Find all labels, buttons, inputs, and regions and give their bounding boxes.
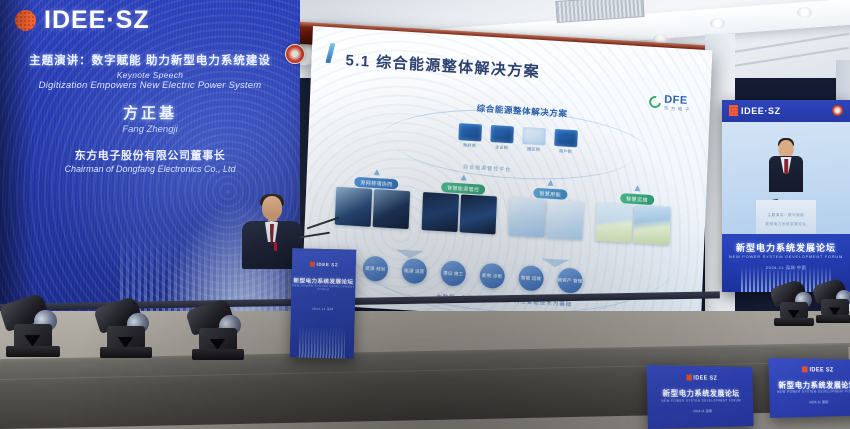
stage-backdrop: IDEE·SZ 主题演讲：数字赋能 助力新型电力系统建设 Keynote Spe… bbox=[0, 0, 300, 330]
lectern-date-line: 2024.11 深圳 bbox=[291, 306, 355, 312]
keynote-label-en: Keynote Speech bbox=[0, 70, 300, 80]
group-caption: 智慧用能 bbox=[533, 188, 567, 200]
diagram-tile: 政府侧 bbox=[458, 123, 482, 149]
dotted-grid-icon bbox=[729, 105, 738, 116]
placard-date-line: 2024.11 深圳 bbox=[648, 409, 754, 415]
up-arrow-icon bbox=[634, 185, 640, 191]
placard-title-cn: 新型电力系统发展论坛 bbox=[647, 388, 753, 399]
forum-title-en: NEW POWER SYSTEM DEVELOPMENT FORUM bbox=[722, 254, 850, 259]
placard-title-en: NEW POWER SYSTEM DEVELOPMENT FORUM bbox=[769, 389, 850, 393]
diagram-tile: 用户侧 bbox=[554, 129, 578, 155]
moving-head-spotlight-icon bbox=[6, 305, 60, 357]
dfe-swirl-icon bbox=[647, 94, 664, 111]
group-image bbox=[459, 194, 497, 234]
capability-circle: 智能 运维 bbox=[518, 265, 544, 292]
secondary-screen-logo-text: IDEE·SZ bbox=[741, 106, 781, 116]
backdrop-logo: IDEE·SZ bbox=[14, 6, 150, 35]
slide-diagram: 综合能源整体解决方案 政府侧 企业侧 园区侧 bbox=[332, 94, 685, 313]
backdrop-left-shadow bbox=[0, 0, 34, 330]
dotted-grid-icon bbox=[310, 262, 315, 267]
group-images bbox=[595, 203, 670, 245]
speaker-video-figure bbox=[764, 140, 808, 202]
capability-circle: 能源 运营 bbox=[401, 258, 427, 285]
speaker-lanyard-badge bbox=[274, 242, 277, 251]
tile-thumbnail bbox=[522, 127, 546, 145]
speaker-name-cn: 方正基 bbox=[0, 102, 300, 123]
moving-head-spotlight-icon bbox=[816, 286, 850, 323]
lectern-title-en: NEW POWER SYSTEM DEVELOPMENT FORUM bbox=[291, 284, 355, 292]
placard-logo: IDEE SZ bbox=[769, 366, 850, 374]
group-images bbox=[422, 192, 497, 234]
lectern-logo-text: IDEE SZ bbox=[317, 262, 339, 268]
projection-screen-surface: 5.1 综合能源整体解决方案 DFE 东方电子 综合能源整体解决方案 政府侧 bbox=[301, 26, 712, 328]
dotted-grid-icon bbox=[802, 367, 808, 373]
lectern-skyline-graphic bbox=[299, 319, 346, 358]
group-image bbox=[546, 200, 584, 240]
group-image bbox=[595, 203, 633, 243]
keynote-topic-cn: 主题演讲：数字赋能 助力新型电力系统建设 bbox=[0, 52, 300, 68]
lectern: IDEE SZ 新型电力系统发展论坛 NEW POWER SYSTEM DEVE… bbox=[290, 248, 357, 359]
circular-seal-emblem-icon bbox=[832, 105, 843, 116]
video-caption-line1: 主题演讲：数字赋能 bbox=[722, 213, 850, 218]
placard-date-line: 2024.11 深圳 bbox=[770, 399, 850, 405]
diagram-tile: 园区侧 bbox=[522, 127, 546, 153]
ceiling-downlight bbox=[797, 7, 812, 18]
floor-placard: IDEE SZ 新型电力系统发展论坛 NEW POWER SYSTEM DEVE… bbox=[768, 358, 850, 418]
dfe-brand-logo: DFE 东方电子 bbox=[649, 94, 693, 113]
keynote-topic-en: Digitization Empowers New Electric Power… bbox=[0, 80, 300, 91]
backdrop-logo-text: IDEE·SZ bbox=[44, 6, 150, 35]
placard-logo-text: IDEE SZ bbox=[693, 376, 717, 382]
speaker-tie bbox=[784, 159, 788, 174]
forum-title-cn: 新型电力系统发展论坛 bbox=[722, 241, 850, 254]
speaker-role-en: Chairman of Dongfang Electronics Co., Lt… bbox=[0, 164, 300, 174]
group-image bbox=[508, 197, 546, 237]
secondary-led-screen: IDEE·SZ 主题演讲：数字赋能 新型电力系统发展论坛 新型电力系统发展论坛 … bbox=[722, 100, 850, 292]
group-image bbox=[633, 205, 671, 245]
group-image bbox=[422, 192, 460, 232]
moving-head-spotlight-icon bbox=[100, 308, 152, 358]
dotted-grid-icon bbox=[686, 375, 692, 381]
lectern-top-surface bbox=[290, 248, 357, 251]
moving-head-spotlight-icon bbox=[192, 310, 244, 360]
projection-screen: 5.1 综合能源整体解决方案 DFE 东方电子 综合能源整体解决方案 政府侧 bbox=[301, 26, 712, 328]
group-image bbox=[335, 187, 373, 227]
placard-title-en: NEW POWER SYSTEM DEVELOPMENT FORUM bbox=[647, 399, 753, 403]
ceiling-downlight bbox=[710, 18, 725, 29]
speaker-name-en: Fang Zhengji bbox=[0, 124, 300, 135]
conference-stage-photo: IDEE·SZ 主题演讲：数字赋能 助力新型电力系统建设 Keynote Spe… bbox=[0, 0, 850, 429]
tile-thumbnail bbox=[554, 129, 578, 147]
capability-circle: 建设 施工 bbox=[440, 260, 466, 287]
placard-logo-text: IDEE SZ bbox=[809, 368, 833, 374]
group-caption: 智慧运维 bbox=[620, 193, 654, 205]
speaker-role-cn: 东方电子股份有限公司董事长 bbox=[0, 147, 300, 163]
forum-date-line: 2024.11 深圳·中国 bbox=[722, 265, 850, 271]
lectern-logo: IDEE SZ bbox=[292, 261, 356, 268]
secondary-screen-video-feed: 主题演讲：数字赋能 新型电力系统发展论坛 bbox=[722, 122, 850, 234]
group-image bbox=[373, 189, 411, 229]
capability-circle: 能效 诊断 bbox=[479, 263, 505, 290]
video-caption-line2: 新型电力系统发展论坛 bbox=[722, 222, 850, 227]
diagram-tile: 企业侧 bbox=[490, 125, 514, 151]
circular-seal-emblem-icon bbox=[285, 44, 305, 64]
capability-circle: 能源 规划 bbox=[362, 255, 388, 282]
secondary-screen-logo: IDEE·SZ bbox=[729, 105, 781, 116]
group-images bbox=[335, 187, 410, 229]
tile-thumbnail bbox=[490, 125, 514, 143]
floor-placard: IDEE SZ 新型电力系统发展论坛 NEW POWER SYSTEM DEVE… bbox=[646, 365, 753, 429]
placard-logo: IDEE SZ bbox=[647, 374, 753, 382]
tile-thumbnail bbox=[458, 123, 482, 141]
group-images bbox=[508, 197, 583, 239]
moving-head-spotlight-icon bbox=[774, 288, 814, 326]
backdrop-text-block: 主题演讲：数字赋能 助力新型电力系统建设 Keynote Speech Digi… bbox=[0, 52, 300, 174]
up-arrow-icon bbox=[374, 169, 380, 175]
up-arrow-icon bbox=[548, 180, 554, 186]
up-arrow-icon bbox=[461, 174, 467, 180]
capability-circle: 碳资产 管理 bbox=[557, 267, 583, 294]
